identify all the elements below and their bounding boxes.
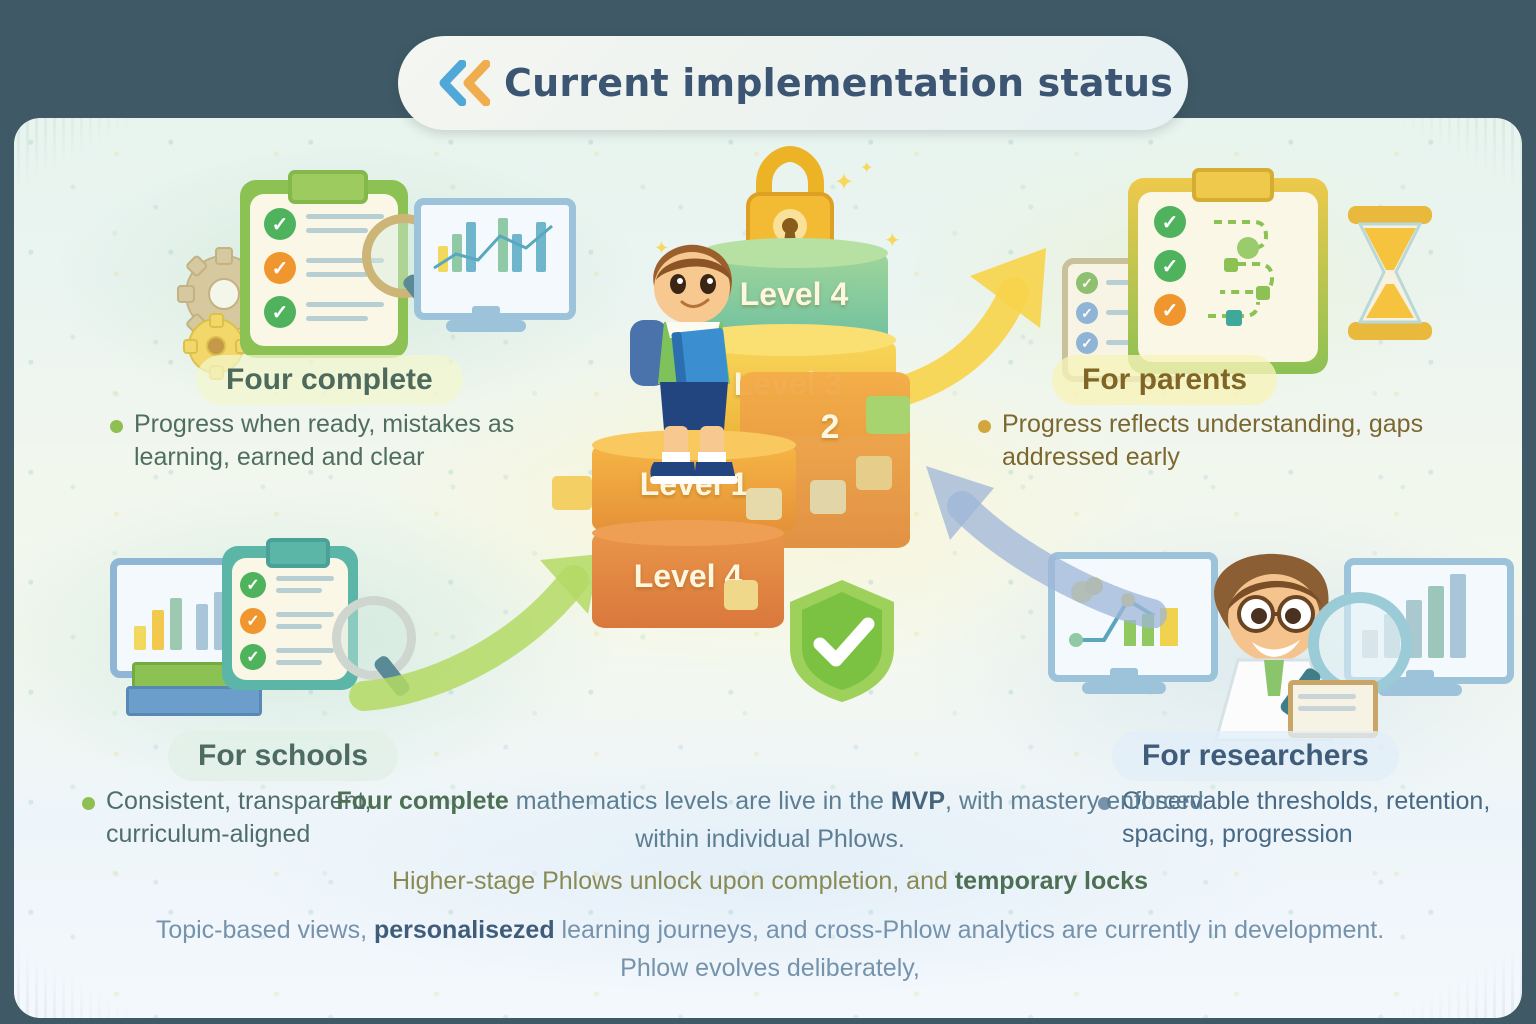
illustration-for-parents: ✓ ✓ ✓ ✓ ✓ ✓ — [1032, 160, 1452, 380]
shield-check-icon — [782, 576, 902, 706]
body-text-1: mathematics levels are live in the — [509, 787, 891, 815]
check-icon: ✓ — [240, 608, 266, 634]
poster-root: ✓ ✓ ✓ ✓ ✓ — [0, 0, 1536, 1024]
label-for-researchers: For researchers — [1112, 731, 1399, 781]
bullet-for-parents: Progress reflects understanding, gaps ad… — [978, 408, 1458, 475]
check-icon: ✓ — [1154, 206, 1186, 238]
body-copy: Four complete mathematics levels are liv… — [330, 782, 1210, 900]
label-four-complete: Four complete — [196, 355, 463, 405]
body-tail: Topic-based views, personalisezed learni… — [120, 912, 1420, 987]
floating-cube — [866, 396, 910, 434]
check-icon: ✓ — [264, 252, 296, 284]
label-for-schools: For schools — [168, 731, 398, 781]
floating-cube — [856, 456, 892, 490]
hourglass-icon — [1338, 204, 1442, 344]
illustration-four-complete: ✓ ✓ ✓ — [146, 160, 566, 380]
check-icon: ✓ — [1154, 250, 1186, 282]
floating-cube — [552, 476, 592, 510]
check-icon: ✓ — [240, 644, 266, 670]
sparkle-icon: ✦ — [860, 158, 873, 178]
clipboard-clip — [266, 538, 330, 568]
check-icon: ✓ — [264, 296, 296, 328]
clipboard-clip — [288, 170, 368, 204]
floating-cube — [810, 480, 846, 514]
floating-cube — [724, 580, 758, 610]
body-emphasis-temporary-locks: temporary locks — [955, 867, 1148, 895]
bullet-four-complete: Progress when ready, mistakes as learnin… — [110, 408, 560, 475]
tail-text-2: learning journeys, and cross-Phlow analy… — [555, 916, 1385, 982]
student-avatar — [604, 234, 784, 494]
bullet-text: Progress reflects understanding, gaps ad… — [1002, 408, 1458, 475]
tail-text-1: Topic-based views, — [156, 916, 374, 944]
clipboard-clip — [1192, 168, 1274, 202]
body-text-3: Higher-stage Phlows unlock upon completi… — [392, 867, 955, 895]
illustration-canvas: ✓ ✓ ✓ ✓ ✓ — [14, 118, 1522, 1018]
page-title: Current implementation status — [504, 61, 1173, 105]
body-line-3: Higher-stage Phlows unlock upon completi… — [330, 862, 1210, 900]
bullet-text: Progress when ready, mistakes as learnin… — [134, 408, 560, 475]
bullet-dot — [978, 420, 991, 433]
check-icon: ✓ — [1154, 294, 1186, 326]
sparkle-icon: ✦ — [884, 228, 901, 253]
check-icon: ✓ — [264, 208, 296, 240]
book-icon — [126, 686, 262, 716]
label-for-parents: For parents — [1052, 355, 1277, 405]
tail-emphasis-personalisezed: personalisezed — [374, 916, 555, 944]
flow-diagram-icon — [1198, 206, 1328, 346]
body-emphasis-four-complete: Four complete — [337, 787, 509, 815]
check-icon: ✓ — [240, 572, 266, 598]
title-banner: Current implementation status — [398, 36, 1188, 130]
bullet-dot — [110, 420, 123, 433]
level-stack: ✦ ✦ ✦ ✦ Level 4 Level 3 2 — [534, 128, 954, 708]
body-emphasis-mvp: MVP — [891, 787, 945, 815]
bullet-dot — [82, 797, 95, 810]
chevron-left-orange-icon — [460, 60, 490, 106]
